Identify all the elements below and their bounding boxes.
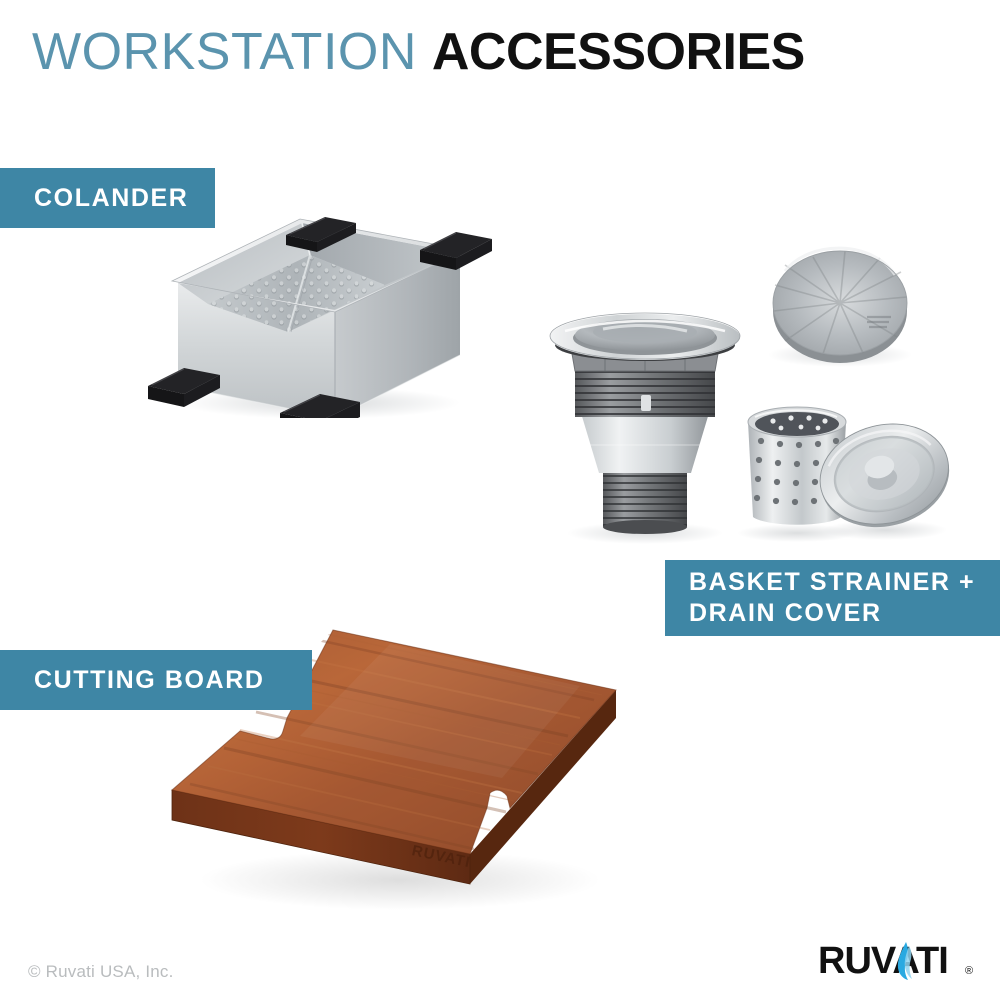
colander-bracket-rear-right [420, 232, 492, 270]
ruvati-logo-svg: RUVATI ® [818, 938, 978, 984]
product-accessories-poster: WORKSTATION ACCESSORIES [0, 0, 1000, 1000]
drain-cover-disc [768, 248, 912, 367]
drain-body [550, 313, 740, 544]
page-title-bold: ACCESSORIES [432, 23, 805, 81]
label-colander: COLANDER [0, 168, 215, 228]
copyright-notice: © Ruvati USA, Inc. [28, 962, 174, 982]
ruvati-wordmark: RUVATI [818, 940, 948, 982]
page-title: WORKSTATION ACCESSORIES [32, 22, 805, 82]
basket-strainer-product-image [545, 245, 1000, 550]
label-colander-text: COLANDER [34, 184, 188, 213]
drain-mid-band [581, 413, 709, 473]
label-strainer-line1: BASKET STRAINER + [689, 567, 975, 598]
colander-illustration [120, 118, 520, 418]
ruvati-logo: RUVATI ® [818, 938, 978, 984]
drain-lock-notch [641, 395, 651, 411]
label-cutting-board-text: CUTTING BOARD [34, 666, 265, 695]
label-cutting-board: CUTTING BOARD [0, 650, 312, 710]
label-basket-strainer: BASKET STRAINER + DRAIN COVER [665, 560, 1000, 636]
colander-product-image [120, 118, 520, 418]
basket-strainer-illustration [545, 245, 1000, 550]
label-basket-strainer-text: BASKET STRAINER + DRAIN COVER [689, 567, 975, 629]
registered-trademark-mark: ® [965, 965, 973, 977]
label-strainer-line2: DRAIN COVER [689, 598, 975, 629]
page-title-light: WORKSTATION [32, 23, 417, 81]
